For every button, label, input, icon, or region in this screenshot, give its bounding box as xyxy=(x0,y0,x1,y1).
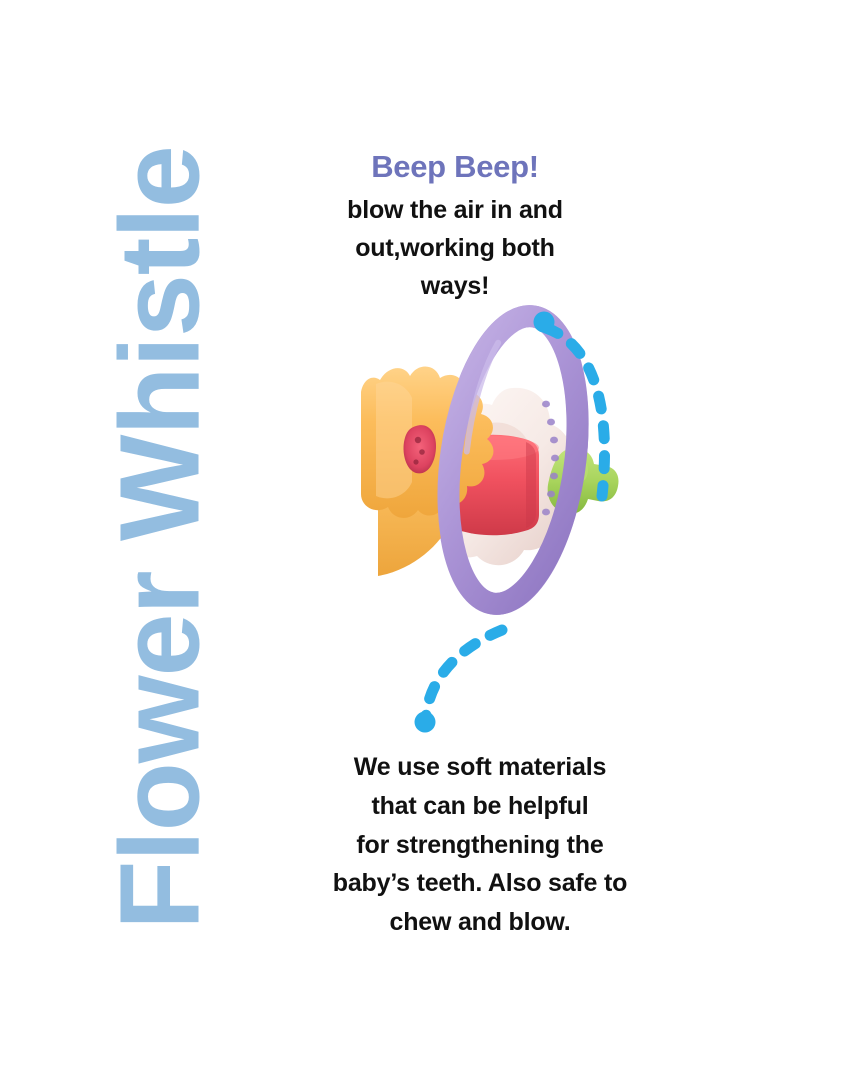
infographic-page: Flower Whistle Beep Beep! blow the air i… xyxy=(0,0,841,1068)
page-title: Flower Whistle xyxy=(104,146,217,929)
bottom-body-line-3: for strengthening the xyxy=(280,826,680,865)
top-body-line-2: out,working both xyxy=(290,229,620,267)
flower-whistle-illustration xyxy=(330,300,660,740)
product-image xyxy=(330,300,660,740)
headline-beep-beep: Beep Beep! xyxy=(290,148,620,186)
bottom-body-line-2: that can be helpful xyxy=(280,787,680,826)
bottom-body-line-5: chew and blow. xyxy=(280,903,680,942)
top-body-line-1: blow the air in and xyxy=(290,191,620,229)
vertical-title-container: Flower Whistle xyxy=(0,0,300,1068)
bottom-copy-block: We use soft materials that can be helpfu… xyxy=(280,748,680,942)
bottom-body-line-4: baby’s teeth. Also safe to xyxy=(280,864,680,903)
bottom-body-line-1: We use soft materials xyxy=(280,748,680,787)
top-copy-block: Beep Beep! blow the air in and out,worki… xyxy=(290,148,620,305)
